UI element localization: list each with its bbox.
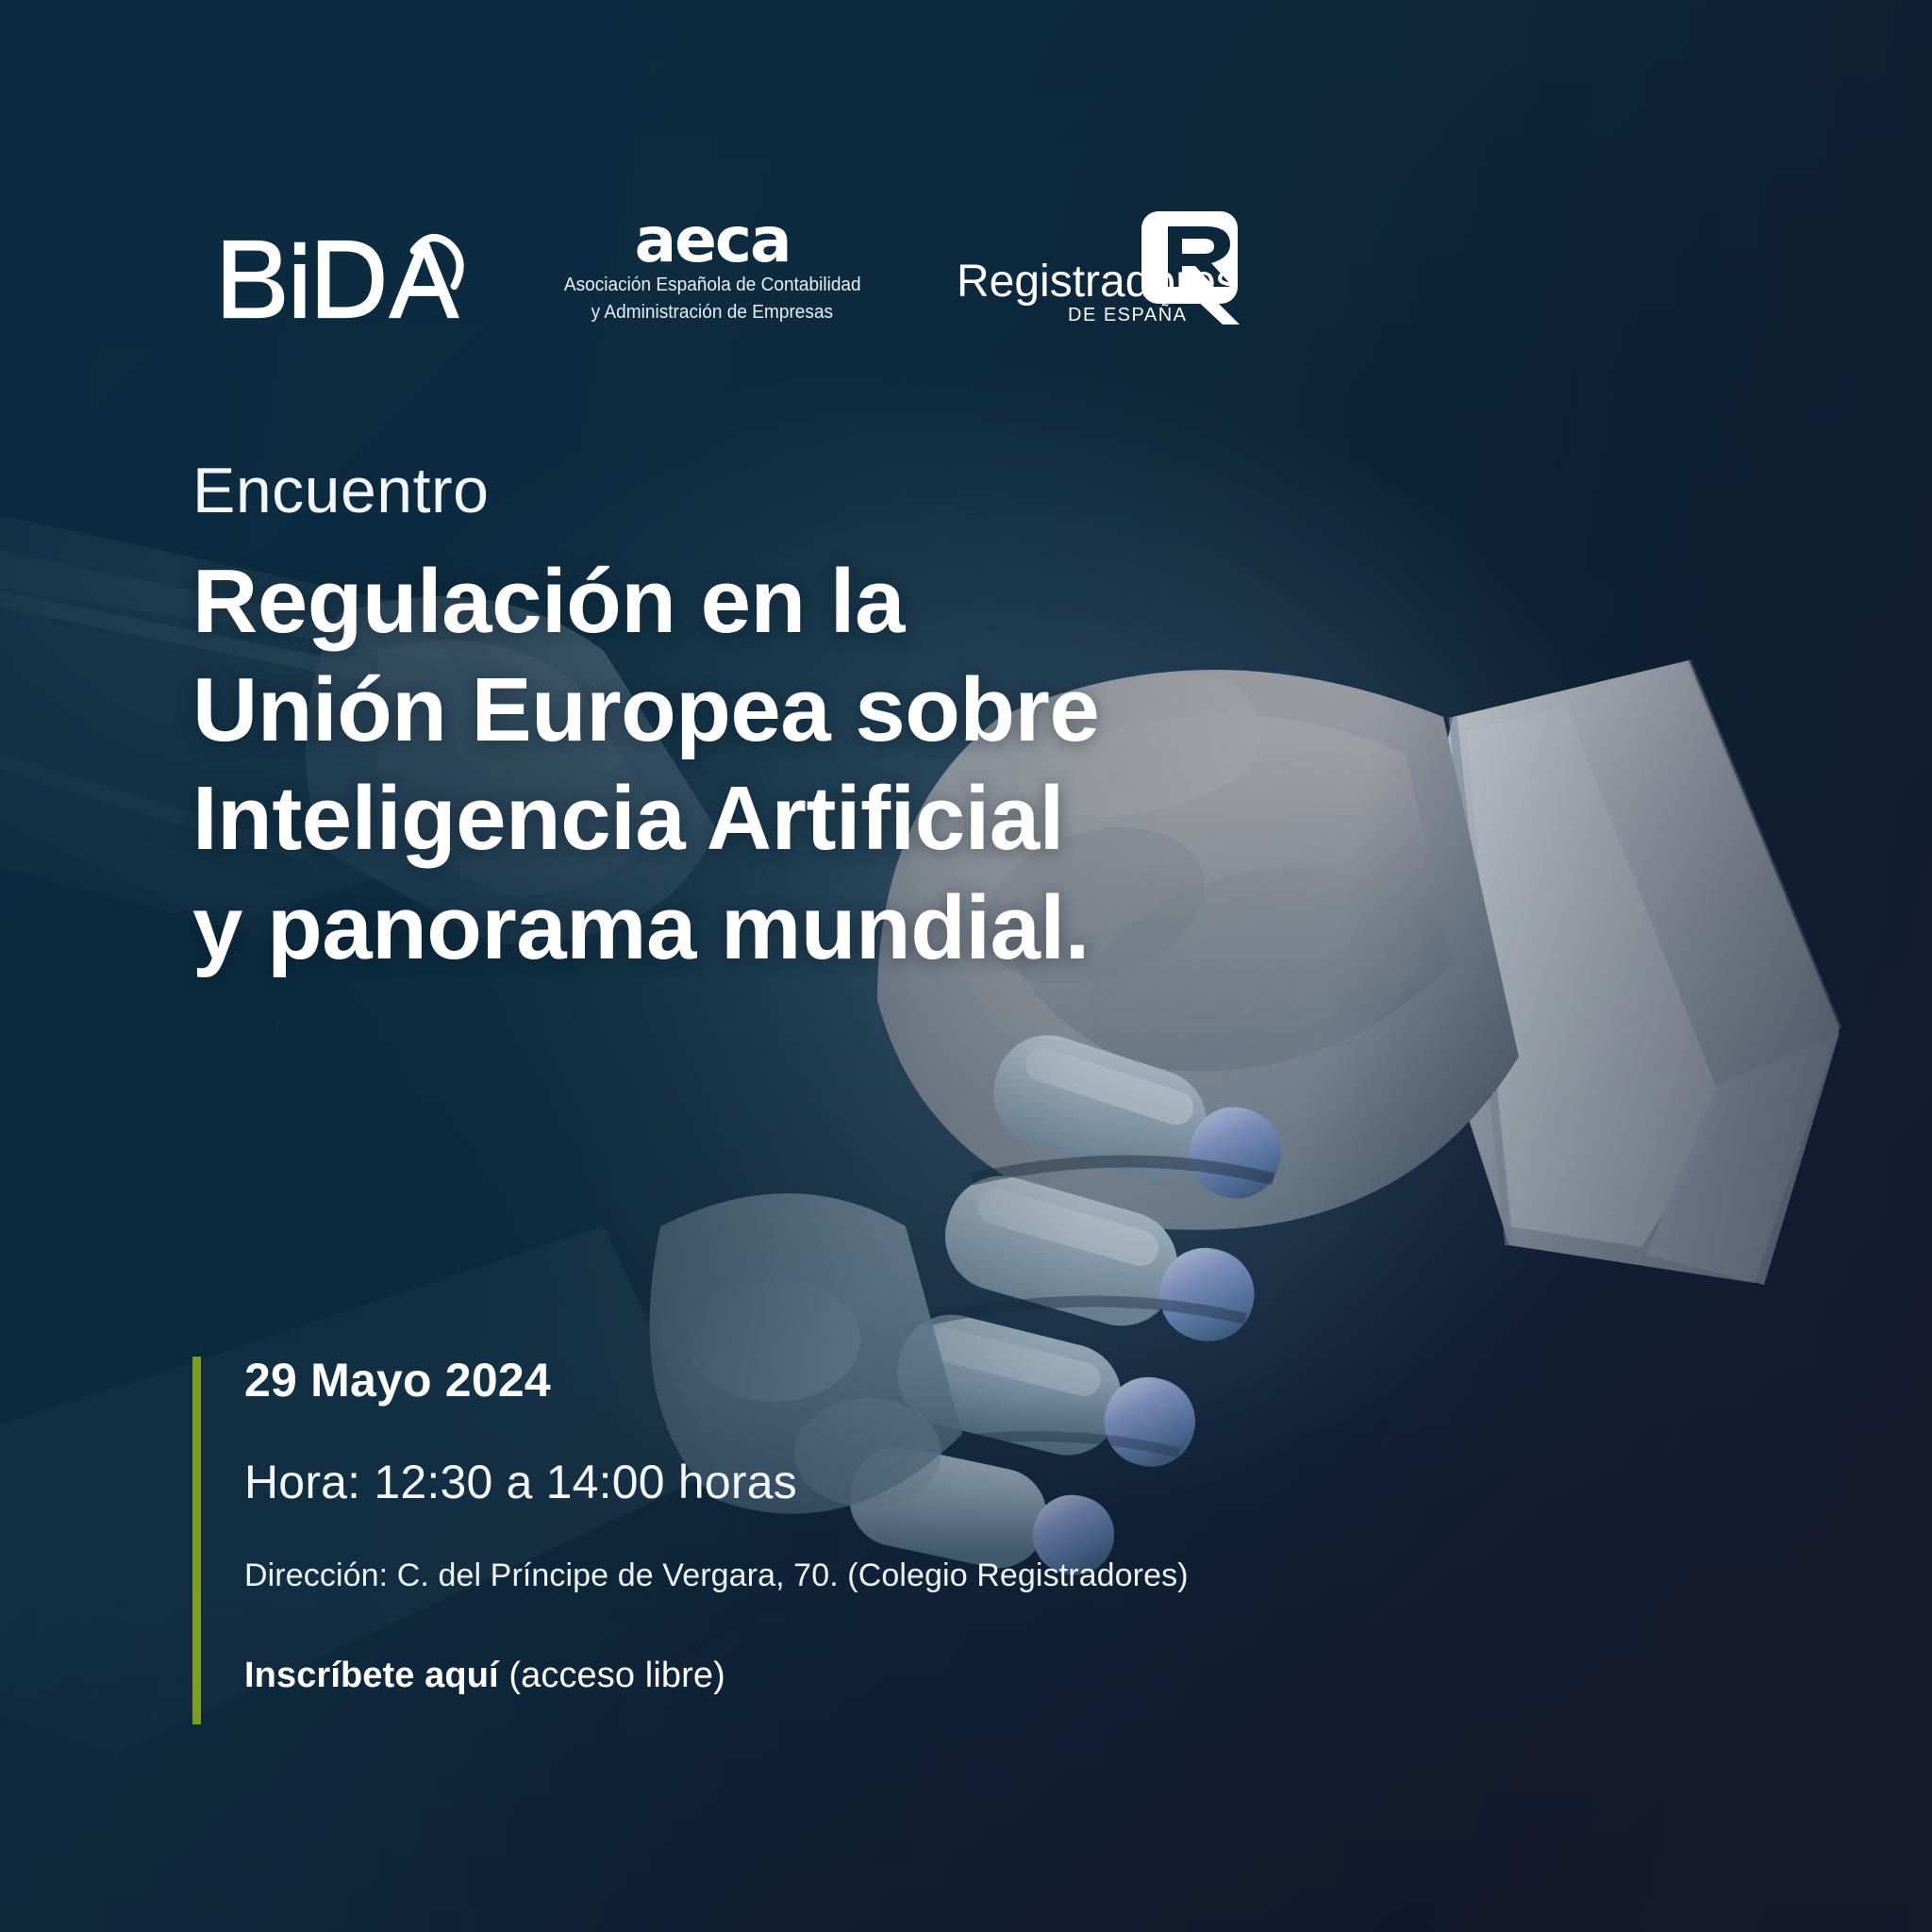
registration-note: (acceso libre)	[499, 1656, 725, 1695]
aeca-subtitle-line-1: Asociación Española de Contabilidad	[564, 273, 861, 297]
page-title: Regulación en la Unión Europea sobre Int…	[192, 547, 1099, 982]
registration-link-label[interactable]: Inscríbete aquí	[244, 1656, 499, 1695]
svg-text:Registradores: Registradores	[957, 257, 1239, 307]
event-date: 29 Mayo 2024	[244, 1357, 1189, 1404]
title-line-3: Inteligencia Artificial	[192, 768, 1064, 869]
logo-bar: aeca Asociación Española de Contabilidad…	[215, 209, 1240, 326]
poster-content: aeca Asociación Española de Contabilidad…	[0, 0, 1932, 1932]
title-line-4: y panorama mundial.	[192, 877, 1090, 978]
aeca-logo: aeca Asociación Española de Contabilidad…	[553, 211, 872, 327]
aeca-subtitle-line-2: y Administración de Empresas	[591, 300, 833, 325]
bida-logo	[215, 232, 468, 326]
event-time: Hora: 12:30 a 14:00 horas	[244, 1458, 1189, 1506]
event-poster: aeca Asociación Española de Contabilidad…	[0, 0, 1932, 1932]
registradores-logo: Registradores DE ESPAÑA	[957, 209, 1240, 326]
event-details: 29 Mayo 2024 Hora: 12:30 a 14:00 horas D…	[192, 1357, 1189, 1724]
title-line-1: Regulación en la	[192, 551, 905, 652]
title-line-2: Unión Europea sobre	[192, 659, 1099, 760]
aeca-wordmark: aeca	[635, 211, 791, 270]
eyebrow-label: Encuentro	[192, 458, 1099, 523]
event-address: Dirección: C. del Príncipe de Vergara, 7…	[244, 1557, 1189, 1595]
headline-block: Encuentro Regulación en la Unión Europea…	[192, 458, 1099, 982]
registration-cta[interactable]: Inscríbete aquí (acceso libre)	[244, 1657, 1189, 1693]
svg-text:DE ESPAÑA: DE ESPAÑA	[1068, 303, 1188, 325]
